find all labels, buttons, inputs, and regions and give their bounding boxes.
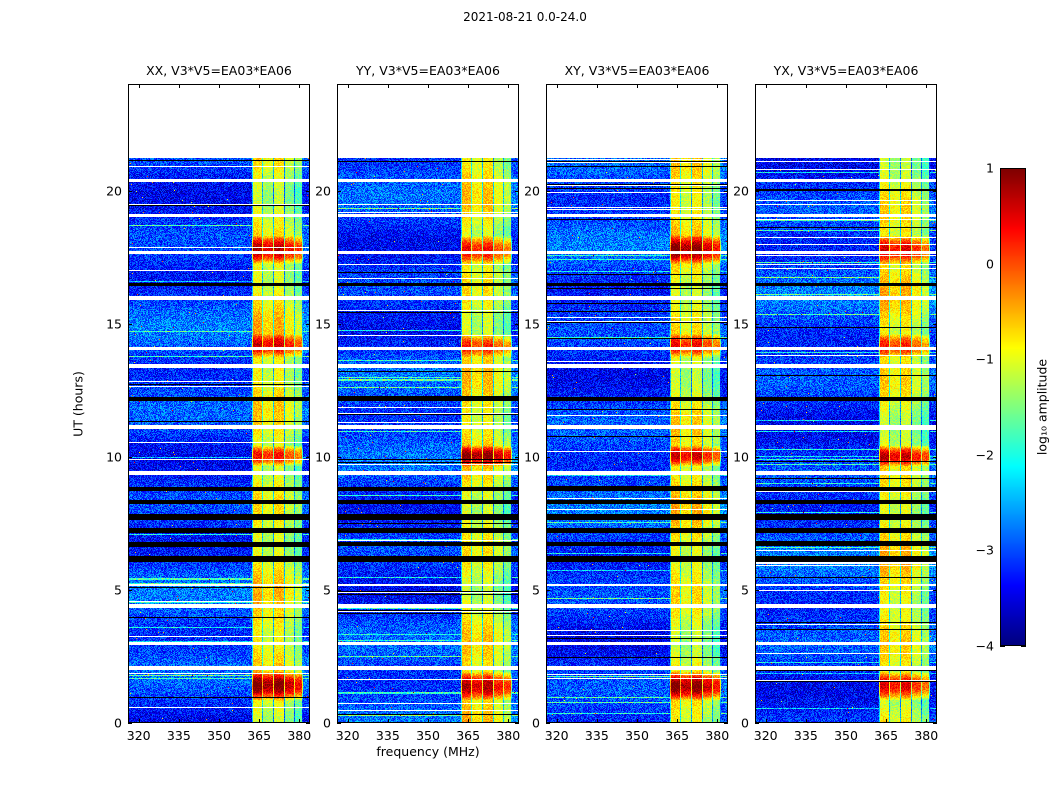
x-tick xyxy=(179,719,180,723)
colorbar-tick-label: −2 xyxy=(966,447,994,462)
y-tick xyxy=(337,590,341,591)
panel-yx[interactable] xyxy=(755,84,937,723)
y-tick xyxy=(755,191,759,192)
x-tick-label: 365 xyxy=(456,728,480,743)
x-tick-top xyxy=(926,84,927,88)
y-tick-label: 15 xyxy=(98,316,122,331)
y-axis-label: UT (hours) xyxy=(71,371,86,437)
colorbar-tick-label: 1 xyxy=(966,161,994,176)
x-tick-label: 320 xyxy=(336,728,360,743)
x-tick-label: 350 xyxy=(625,728,649,743)
waterfall-image-yx xyxy=(756,158,937,722)
x-tick-top xyxy=(219,84,220,88)
x-tick-top xyxy=(139,84,140,88)
colorbar-gradient xyxy=(1001,169,1025,645)
x-tick xyxy=(886,719,887,723)
x-tick xyxy=(259,719,260,723)
colorbar-tick-label: −3 xyxy=(966,543,994,558)
x-tick xyxy=(428,719,429,723)
y-tick xyxy=(128,457,132,458)
y-tick-label: 5 xyxy=(725,582,749,597)
y-tick xyxy=(337,723,341,724)
x-tick-top xyxy=(677,84,678,88)
y-tick xyxy=(546,723,550,724)
colorbar-tick xyxy=(1000,646,1005,647)
x-tick xyxy=(806,719,807,723)
y-tick-label: 20 xyxy=(307,183,331,198)
x-tick-label: 350 xyxy=(207,728,231,743)
y-tick-right xyxy=(933,324,937,325)
x-tick-label: 320 xyxy=(545,728,569,743)
colorbar-tick-label: −4 xyxy=(966,639,994,654)
x-tick-top xyxy=(806,84,807,88)
y-tick-label: 20 xyxy=(725,183,749,198)
panel-title-yy: YY, V3*V5=EA03*EA06 xyxy=(337,62,519,80)
y-tick-label: 5 xyxy=(307,582,331,597)
x-tick-label: 365 xyxy=(874,728,898,743)
y-tick-label: 20 xyxy=(516,183,540,198)
x-tick xyxy=(766,719,767,723)
x-tick-top xyxy=(886,84,887,88)
x-tick-label: 350 xyxy=(416,728,440,743)
x-tick-label: 350 xyxy=(834,728,858,743)
waterfall-image-xy xyxy=(547,158,728,722)
waterfall-image-yy xyxy=(338,158,519,722)
y-tick-label: 5 xyxy=(98,582,122,597)
y-tick-right xyxy=(933,590,937,591)
x-tick-label: 365 xyxy=(247,728,271,743)
y-tick-label: 10 xyxy=(725,449,749,464)
y-tick xyxy=(546,191,550,192)
x-tick xyxy=(926,719,927,723)
y-tick xyxy=(337,191,341,192)
x-tick-label: 335 xyxy=(585,728,609,743)
x-tick-top xyxy=(597,84,598,88)
colorbar-tick-label: 0 xyxy=(966,256,994,271)
colorbar-label: log₁₀ amplitude xyxy=(1035,359,1050,455)
y-tick xyxy=(546,324,550,325)
y-tick xyxy=(755,590,759,591)
y-tick xyxy=(128,723,132,724)
x-tick xyxy=(508,719,509,723)
y-tick-label: 15 xyxy=(307,316,331,331)
x-tick xyxy=(348,719,349,723)
y-tick xyxy=(546,457,550,458)
x-tick-label: 320 xyxy=(754,728,778,743)
colorbar[interactable] xyxy=(1000,168,1026,646)
panel-title-yx: YX, V3*V5=EA03*EA06 xyxy=(755,62,937,80)
x-tick xyxy=(299,719,300,723)
y-tick-label: 10 xyxy=(98,449,122,464)
y-tick-label: 15 xyxy=(516,316,540,331)
x-tick-top xyxy=(508,84,509,88)
y-tick xyxy=(755,723,759,724)
x-tick-label: 320 xyxy=(127,728,151,743)
x-tick-top xyxy=(557,84,558,88)
x-tick xyxy=(139,719,140,723)
x-tick-top xyxy=(299,84,300,88)
panel-yy[interactable] xyxy=(337,84,519,723)
x-tick-top xyxy=(179,84,180,88)
x-tick-label: 335 xyxy=(794,728,818,743)
panel-title-xy: XY, V3*V5=EA03*EA06 xyxy=(546,62,728,80)
panel-xy[interactable] xyxy=(546,84,728,723)
y-tick-label: 15 xyxy=(725,316,749,331)
y-tick-label: 0 xyxy=(307,716,331,731)
y-tick xyxy=(755,457,759,458)
x-tick xyxy=(468,719,469,723)
x-tick xyxy=(219,719,220,723)
colorbar-tick-label: −1 xyxy=(966,352,994,367)
x-tick-label: 335 xyxy=(167,728,191,743)
x-tick-top xyxy=(428,84,429,88)
x-tick-top xyxy=(717,84,718,88)
colorbar-tick-right xyxy=(1021,646,1026,647)
x-tick-label: 335 xyxy=(376,728,400,743)
y-tick-label: 20 xyxy=(98,183,122,198)
x-tick xyxy=(557,719,558,723)
y-tick-label: 0 xyxy=(516,716,540,731)
y-tick-label: 0 xyxy=(98,716,122,731)
figure-canvas: 2021-08-21 0.0-24.0 XX, V3*V5=EA03*EA06 … xyxy=(0,0,1050,800)
y-tick-label: 10 xyxy=(516,449,540,464)
x-tick-top xyxy=(468,84,469,88)
y-tick-label: 0 xyxy=(725,716,749,731)
x-tick-top xyxy=(388,84,389,88)
x-tick xyxy=(717,719,718,723)
waterfall-image-xx xyxy=(129,158,310,722)
x-tick-top xyxy=(348,84,349,88)
x-axis-label: frequency (MHz) xyxy=(328,744,528,759)
y-tick xyxy=(128,191,132,192)
x-tick xyxy=(677,719,678,723)
figure-suptitle: 2021-08-21 0.0-24.0 xyxy=(0,10,1050,24)
y-tick-right xyxy=(933,723,937,724)
y-tick xyxy=(337,457,341,458)
panel-xx[interactable] xyxy=(128,84,310,723)
x-tick-top xyxy=(766,84,767,88)
x-tick-top xyxy=(259,84,260,88)
y-tick-right xyxy=(933,457,937,458)
y-tick-right xyxy=(933,191,937,192)
x-tick xyxy=(637,719,638,723)
y-tick-label: 10 xyxy=(307,449,331,464)
x-tick xyxy=(597,719,598,723)
panel-title-xx: XX, V3*V5=EA03*EA06 xyxy=(128,62,310,80)
y-tick xyxy=(546,590,550,591)
y-tick xyxy=(337,324,341,325)
y-tick xyxy=(128,590,132,591)
x-tick-top xyxy=(846,84,847,88)
x-tick xyxy=(846,719,847,723)
x-tick-label: 380 xyxy=(914,728,938,743)
y-tick-label: 5 xyxy=(516,582,540,597)
y-tick xyxy=(755,324,759,325)
y-tick xyxy=(128,324,132,325)
x-tick xyxy=(388,719,389,723)
x-tick-top xyxy=(637,84,638,88)
x-tick-label: 365 xyxy=(665,728,689,743)
